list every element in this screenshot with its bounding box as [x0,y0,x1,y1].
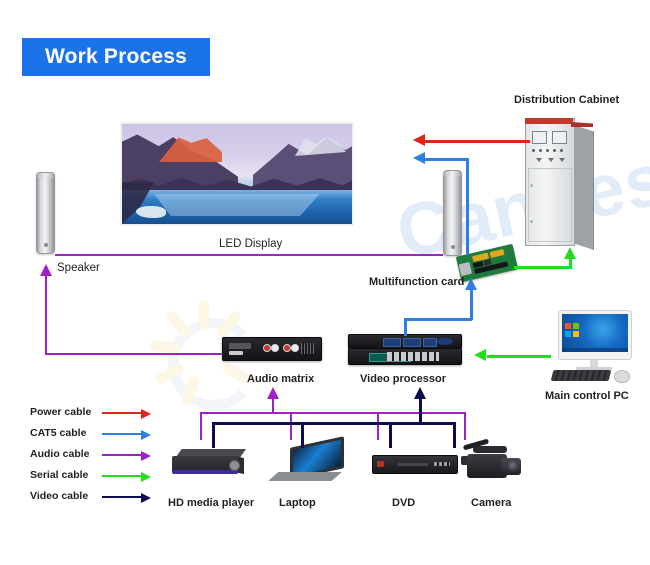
speaker-right [443,170,462,256]
wire-video-to-processor [419,398,422,422]
wire-video-drop-4 [453,422,456,448]
wire-audio-drop-3 [377,412,379,440]
distribution-cabinet [525,118,593,248]
legend-arrow-video [102,496,142,498]
wire-serial-riser [569,258,572,268]
led-display-label: LED Display [219,238,282,250]
arrowhead-audio-up-speaker [40,264,52,276]
legend-label-video: Video cable [30,490,88,502]
arrowhead-video-up-processor [414,387,426,399]
dvd-player [372,455,458,474]
wire-power-cabinet-to-display [425,140,530,143]
camera [461,442,523,482]
wire-cat5-to-display [425,158,469,161]
multifunction-card-label: Multifunction card [369,276,464,288]
legend-label-power: Power cable [30,406,91,418]
arrowhead-audio-up-matrix [267,387,279,399]
wire-video-source-bus [212,422,456,425]
legend-arrow-power [102,412,142,414]
wire-audio-to-matrix [272,398,274,414]
mouse-icon [614,370,630,383]
legend-item-power: Power cable [30,403,155,424]
hd-media-player [172,449,246,479]
distribution-cabinet-label: Distribution Cabinet [514,94,619,106]
wire-serial-pc-to-vp [487,355,551,358]
speaker-left [36,172,55,254]
legend-arrow-cat5 [102,433,142,435]
legend-arrow-serial [102,475,142,477]
legend: Power cable CAT5 cable Audio cable Seria… [30,403,155,508]
main-control-pc [552,310,634,382]
audio-matrix [222,337,322,361]
arrowhead-serial-left-vp [474,349,486,361]
legend-label-audio: Audio cable [30,448,90,460]
laptop [268,442,346,482]
wire-audio-speaker-bus [55,254,443,256]
video-processor-top [348,334,462,349]
wire-cat5-card-riser [470,290,473,320]
arrowhead-power-left [413,134,425,146]
keyboard-icon [551,370,612,381]
video-processor-bottom [348,348,462,365]
arrowhead-cat5-up-card [465,278,477,290]
legend-label-cat5: CAT5 cable [30,427,86,439]
wire-cat5-vertical-to-card [466,158,469,254]
speaker-label: Speaker [57,262,100,274]
wire-video-drop-3 [389,422,392,448]
laptop-label: Laptop [279,497,316,509]
wire-audio-drop-2 [290,412,292,440]
wire-serial-card-to-cabinet [514,266,572,269]
hd-media-player-label: HD media player [168,497,254,509]
wire-audio-matrix-to-left [45,353,222,355]
arrowhead-serial-up-cabinet [564,247,576,259]
wire-cat5-vp-to-card [404,318,472,321]
led-display-screen [120,122,354,226]
wire-audio-left-riser [45,276,47,354]
legend-item-audio: Audio cable [30,445,155,466]
legend-item-serial: Serial cable [30,466,155,487]
legend-item-video: Video cable [30,487,155,508]
arrowhead-cat5-left [413,152,425,164]
camera-label: Camera [471,497,511,509]
wire-video-drop-2 [301,422,304,448]
main-control-pc-label: Main control PC [545,390,629,402]
wire-audio-source-bus [200,412,466,414]
wire-audio-drop-4 [464,412,466,440]
page-title-text: Work Process [45,45,187,69]
legend-arrow-audio [102,454,142,456]
legend-item-cat5: CAT5 cable [30,424,155,445]
work-process-diagram: Canbest Work Process LED Display Speaker… [0,0,650,565]
wire-audio-drop-1 [200,412,202,440]
page-title: Work Process [22,38,210,76]
wire-video-drop-1 [212,422,215,448]
audio-matrix-label: Audio matrix [247,373,314,385]
dvd-label: DVD [392,497,415,509]
legend-label-serial: Serial cable [30,469,88,481]
video-processor-label: Video processor [360,373,446,385]
